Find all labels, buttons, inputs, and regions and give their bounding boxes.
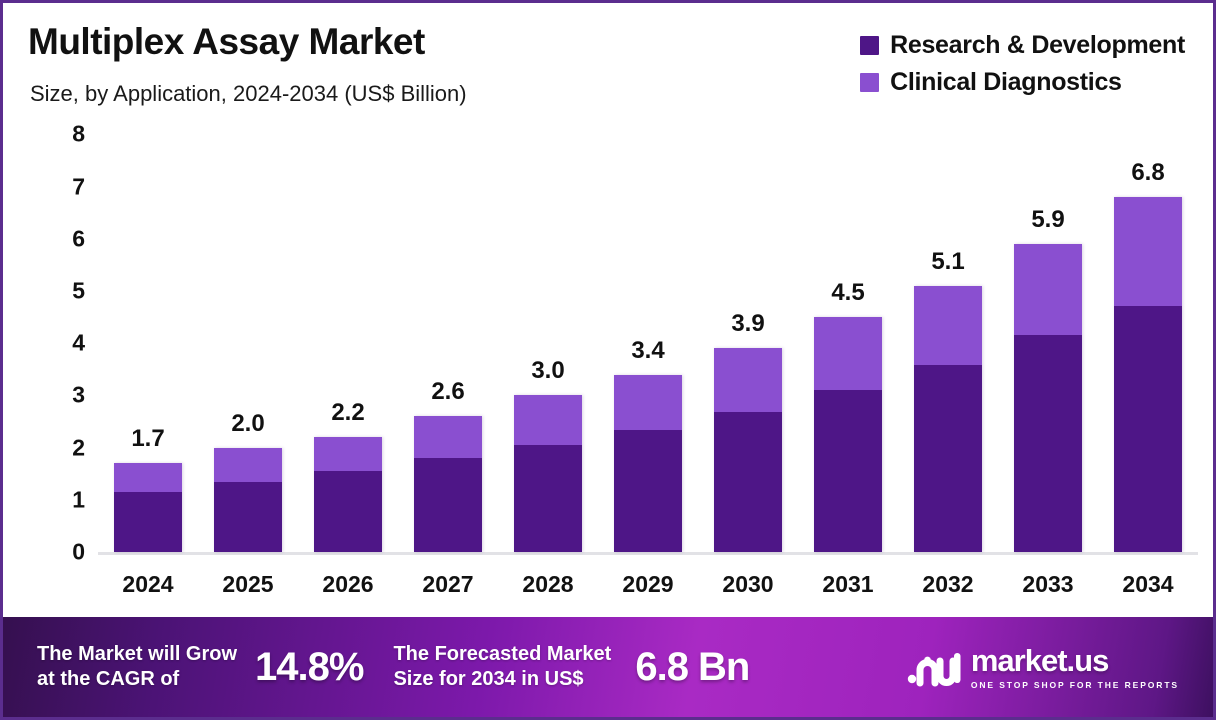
legend-item-clinical-diagnostics[interactable]: Clinical Diagnostics	[860, 68, 1122, 97]
forecast-caption-line1: The Forecasted Market	[393, 642, 611, 667]
x-axis-tick: 2028	[514, 571, 582, 598]
page-subtitle: Size, by Application, 2024-2034 (US$ Bil…	[30, 81, 467, 107]
bar-total-label: 5.1	[931, 248, 964, 276]
legend-label: Research & Development	[890, 31, 1185, 60]
cagr-value: 14.8%	[255, 645, 363, 690]
bar-stack[interactable]	[414, 416, 482, 552]
y-axis-tick: 6	[43, 225, 85, 252]
bar-stack[interactable]	[514, 395, 582, 552]
bar-segment-research-development[interactable]	[1014, 335, 1082, 552]
bar-segment-research-development[interactable]	[714, 412, 782, 552]
x-axis-tick: 2025	[214, 571, 282, 598]
bar-column[interactable]: 1.7	[114, 121, 182, 552]
y-axis: 876543210	[43, 121, 85, 563]
bar-segment-clinical-diagnostics[interactable]	[314, 437, 382, 471]
bar-segment-research-development[interactable]	[514, 445, 582, 552]
bar-column[interactable]: 3.9	[714, 121, 782, 552]
legend-label: Clinical Diagnostics	[890, 68, 1122, 97]
chart-plot-area: 876543210 1.72.02.22.63.03.43.94.55.15.9…	[3, 121, 1213, 615]
bar-segment-research-development[interactable]	[314, 471, 382, 552]
bar-segment-clinical-diagnostics[interactable]	[914, 286, 982, 365]
bar-total-label: 5.9	[1031, 206, 1064, 234]
bar-segment-research-development[interactable]	[814, 390, 882, 552]
infographic-frame: Multiplex Assay Market Size, by Applicat…	[0, 0, 1216, 720]
x-axis: 2024202520262027202820292030203120322033…	[98, 561, 1198, 607]
bar-segment-research-development[interactable]	[914, 365, 982, 552]
bar-segment-research-development[interactable]	[1114, 306, 1182, 552]
legend-item-research-development[interactable]: Research & Development	[860, 31, 1185, 60]
bar-stack[interactable]	[214, 448, 282, 552]
logo-tagline: ONE STOP SHOP FOR THE REPORTS	[971, 680, 1179, 690]
bar-stack[interactable]	[914, 286, 982, 552]
x-axis-tick: 2027	[414, 571, 482, 598]
bar-segment-clinical-diagnostics[interactable]	[514, 395, 582, 445]
bar-stack[interactable]	[314, 437, 382, 552]
bar-segment-clinical-diagnostics[interactable]	[714, 348, 782, 412]
bar-total-label: 3.9	[731, 310, 764, 338]
y-axis-tick: 8	[43, 121, 85, 148]
chart-legend: Research & Development Clinical Diagnost…	[860, 31, 1185, 97]
bar-column[interactable]: 2.6	[414, 121, 482, 552]
logo-wordmark: market.us	[971, 645, 1108, 676]
x-axis-tick: 2031	[814, 571, 882, 598]
bar-segment-clinical-diagnostics[interactable]	[614, 375, 682, 431]
bar-stack[interactable]	[1014, 244, 1082, 552]
bar-segment-research-development[interactable]	[414, 458, 482, 552]
bar-total-label: 4.5	[831, 279, 864, 307]
market-us-logo[interactable]: market.us ONE STOP SHOP FOR THE REPORTS	[907, 643, 1191, 692]
bar-stack[interactable]	[714, 348, 782, 552]
bar-total-label: 6.8	[1131, 159, 1164, 187]
bar-segment-clinical-diagnostics[interactable]	[414, 416, 482, 458]
bar-segment-research-development[interactable]	[614, 430, 682, 552]
bar-segment-clinical-diagnostics[interactable]	[1014, 244, 1082, 335]
x-axis-tick: 2034	[1114, 571, 1182, 598]
bar-segment-research-development[interactable]	[214, 482, 282, 552]
chart-header: Multiplex Assay Market Size, by Applicat…	[3, 3, 1213, 121]
y-axis-tick: 0	[43, 539, 85, 566]
bar-column[interactable]: 3.0	[514, 121, 582, 552]
forecast-value: 6.8 Bn	[635, 645, 749, 690]
bar-total-label: 2.2	[331, 399, 364, 427]
x-axis-tick: 2030	[714, 571, 782, 598]
x-axis-tick: 2024	[114, 571, 182, 598]
forecast-caption: The Forecasted Market Size for 2034 in U…	[393, 642, 611, 692]
market-us-logo-text: market.us ONE STOP SHOP FOR THE REPORTS	[971, 645, 1179, 690]
bar-column[interactable]: 6.8	[1114, 121, 1182, 552]
bar-stack[interactable]	[114, 463, 182, 552]
y-axis-tick: 7	[43, 173, 85, 200]
bar-segment-clinical-diagnostics[interactable]	[1114, 197, 1182, 306]
bar-segment-clinical-diagnostics[interactable]	[814, 317, 882, 390]
cagr-caption: The Market will Grow at the CAGR of	[37, 642, 237, 692]
legend-swatch-icon	[860, 36, 879, 55]
bar-total-label: 2.6	[431, 378, 464, 406]
y-axis-tick: 3	[43, 382, 85, 409]
x-axis-baseline	[98, 552, 1198, 555]
bar-stack[interactable]	[614, 375, 682, 552]
bar-total-label: 1.7	[131, 425, 164, 453]
y-axis-tick: 1	[43, 486, 85, 513]
cagr-caption-line2: at the CAGR of	[37, 667, 237, 692]
x-axis-tick: 2032	[914, 571, 982, 598]
bar-segment-clinical-diagnostics[interactable]	[214, 448, 282, 482]
bar-column[interactable]: 2.0	[214, 121, 282, 552]
x-axis-tick: 2029	[614, 571, 682, 598]
forecast-caption-line2: Size for 2034 in US$	[393, 667, 611, 692]
x-axis-tick: 2026	[314, 571, 382, 598]
y-axis-tick: 2	[43, 434, 85, 461]
bar-column[interactable]: 4.5	[814, 121, 882, 552]
bar-total-label: 2.0	[231, 410, 264, 438]
summary-banner: The Market will Grow at the CAGR of 14.8…	[3, 617, 1213, 717]
bar-column[interactable]: 3.4	[614, 121, 682, 552]
bar-total-label: 3.4	[631, 337, 664, 365]
bar-stack[interactable]	[814, 317, 882, 552]
bar-column[interactable]: 5.1	[914, 121, 982, 552]
x-axis-tick: 2033	[1014, 571, 1082, 598]
bar-series-container: 1.72.02.22.63.03.43.94.55.15.96.8	[98, 121, 1198, 552]
market-us-logo-icon	[907, 643, 961, 692]
bar-segment-research-development[interactable]	[114, 492, 182, 552]
bar-total-label: 3.0	[531, 357, 564, 385]
bar-column[interactable]: 2.2	[314, 121, 382, 552]
bar-column[interactable]: 5.9	[1014, 121, 1082, 552]
page-title: Multiplex Assay Market	[28, 21, 425, 63]
bar-segment-clinical-diagnostics[interactable]	[114, 463, 182, 492]
legend-swatch-icon	[860, 73, 879, 92]
y-axis-tick: 4	[43, 330, 85, 357]
y-axis-tick: 5	[43, 278, 85, 305]
cagr-caption-line1: The Market will Grow	[37, 642, 237, 667]
bar-stack[interactable]	[1114, 197, 1182, 552]
